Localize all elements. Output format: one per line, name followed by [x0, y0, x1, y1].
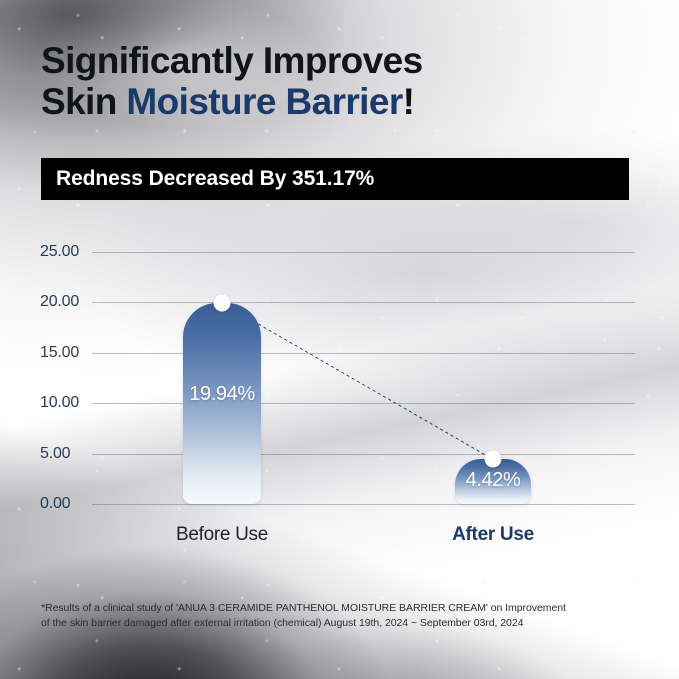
bar-value-label: 19.94% — [183, 383, 261, 406]
headline-accent: Moisture Barrier — [126, 81, 402, 122]
y-axis-tick-label: 20.00 — [40, 293, 110, 311]
trend-connector-line — [92, 252, 635, 504]
headline-suffix: ! — [403, 81, 415, 122]
gridline — [92, 403, 635, 404]
gridline — [92, 353, 635, 354]
footnote-line-1: *Results of a clinical study of 'ANUA 3 … — [41, 601, 641, 616]
banner-label: Redness Decreased By 351.17% — [41, 167, 374, 191]
headline-line-2: Skin Moisture Barrier! — [41, 81, 641, 122]
bar-before-use[interactable]: 19.94% — [183, 303, 261, 504]
y-axis-tick-label: 10.00 — [40, 394, 110, 412]
footnote-line-2: of the skin barrier damaged after extern… — [41, 616, 641, 631]
y-axis-tick-label: 25.00 — [40, 243, 110, 261]
gridline — [92, 252, 635, 253]
headline-line-1: Significantly Improves — [41, 40, 641, 81]
y-axis-tick-label: 15.00 — [40, 344, 110, 362]
gridline — [92, 504, 635, 505]
plot-area: 19.94%4.42% — [92, 252, 635, 504]
y-axis-tick-label: 5.00 — [40, 445, 110, 463]
highlight-banner: Redness Decreased By 351.17% — [41, 158, 629, 200]
x-axis-label-before-use: Before Use — [176, 524, 268, 546]
gridline — [92, 454, 635, 455]
data-point-marker[interactable] — [485, 451, 502, 468]
data-point-marker[interactable] — [214, 295, 231, 312]
bar-chart: 19.94%4.42% 25.0020.0015.0010.005.000.00… — [0, 236, 679, 546]
x-axis-label-after-use: After Use — [452, 524, 534, 546]
headline-prefix: Skin — [41, 81, 126, 122]
y-axis-tick-label: 0.00 — [40, 495, 110, 513]
bar-value-label: 4.42% — [455, 469, 531, 492]
infographic-canvas: Significantly Improves Skin Moisture Bar… — [0, 0, 679, 679]
gridline — [92, 302, 635, 303]
footnote: *Results of a clinical study of 'ANUA 3 … — [41, 601, 641, 631]
page-title: Significantly Improves Skin Moisture Bar… — [41, 40, 641, 122]
